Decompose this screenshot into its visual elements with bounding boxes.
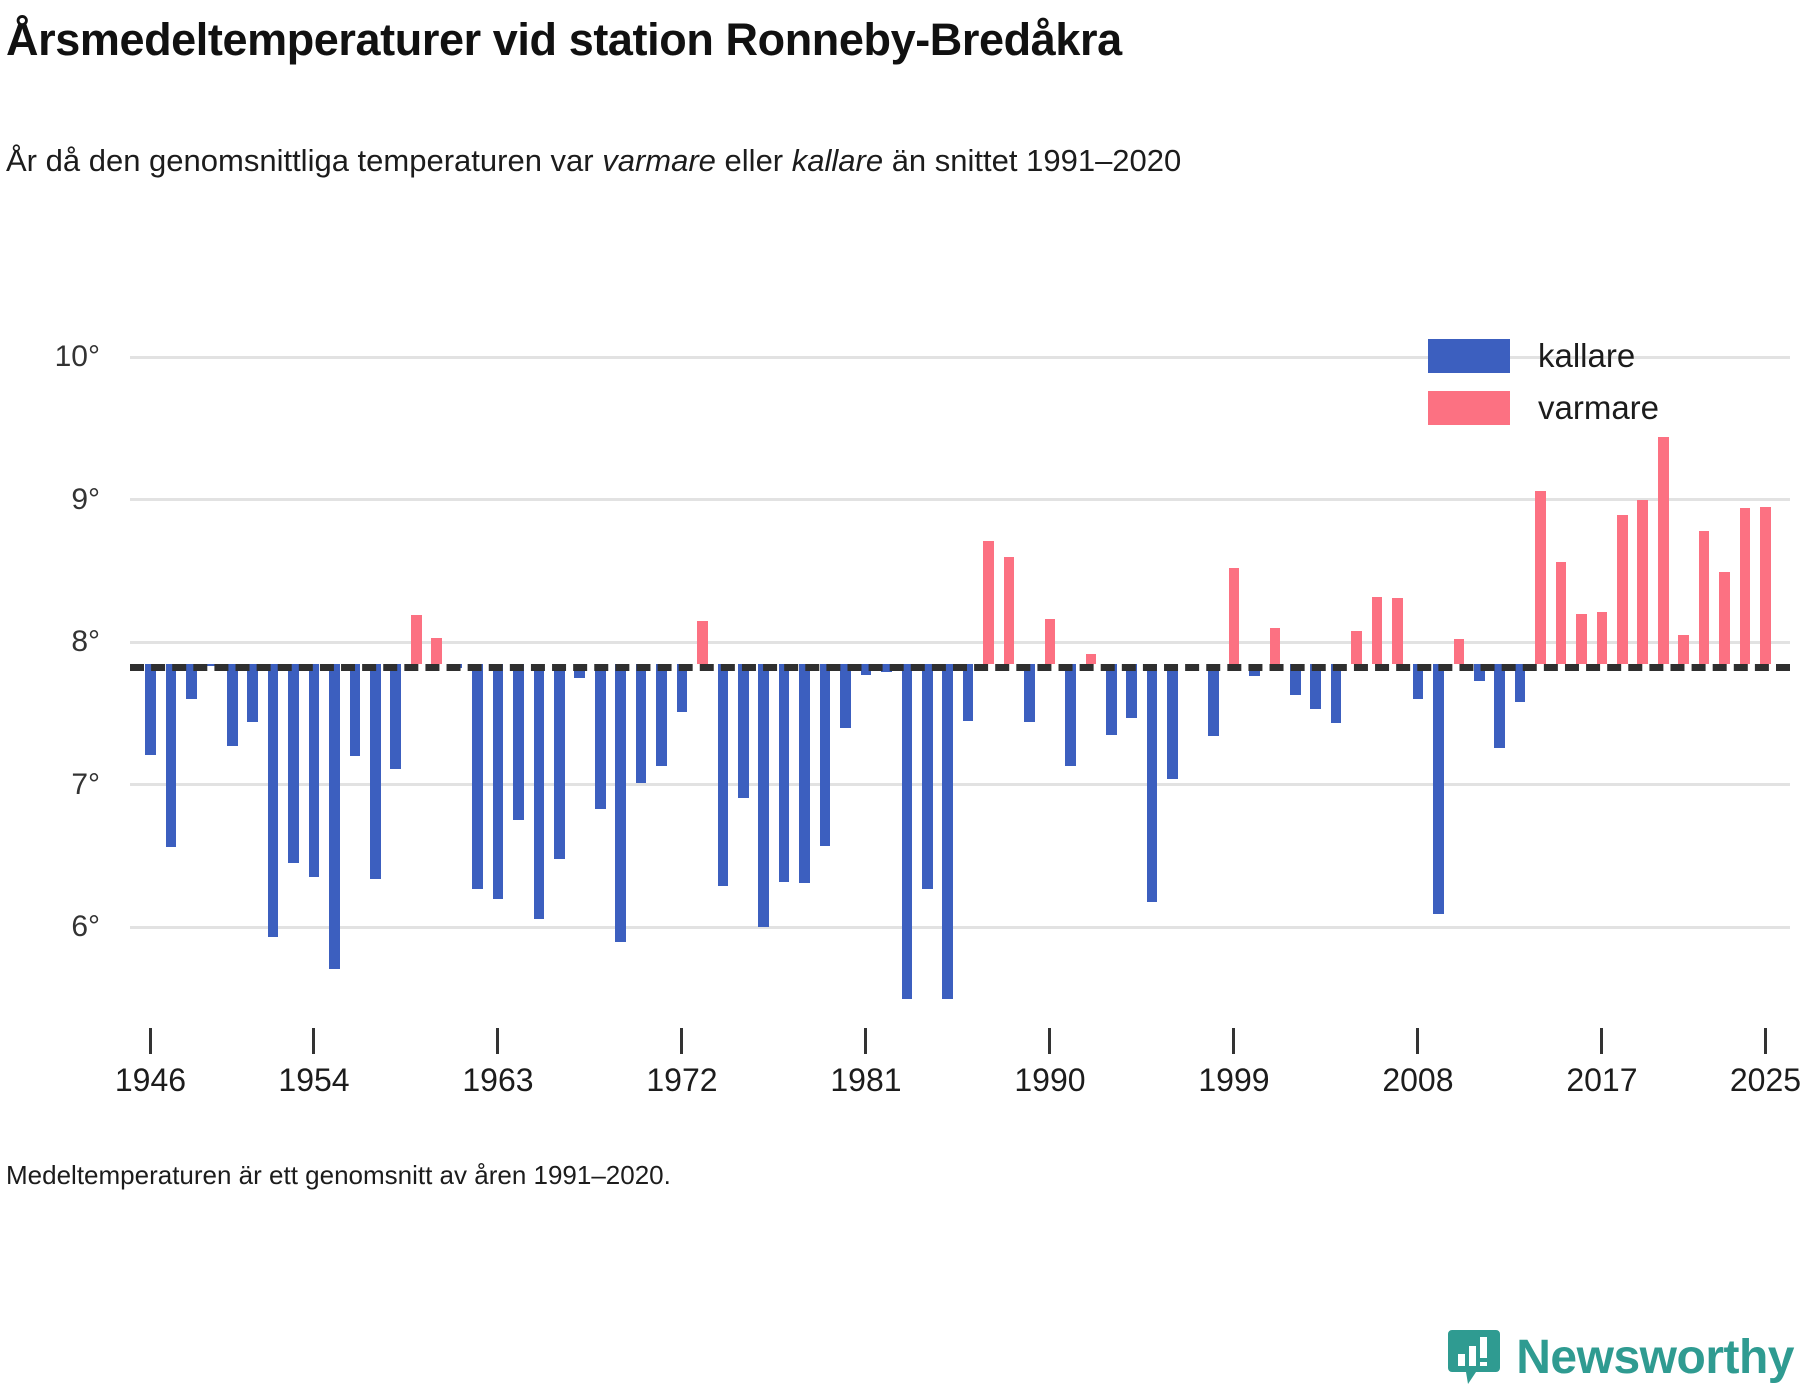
subtitle-segment-1: År då den genomsnittliga temperaturen va…	[6, 143, 602, 178]
x-axis-tick	[312, 1028, 315, 1054]
bar-1971[interactable]	[656, 664, 667, 767]
x-axis: 1946195419631972198119901999200820172025	[0, 1020, 1800, 1140]
x-axis-tick	[149, 1028, 152, 1054]
x-axis-tick	[1764, 1028, 1767, 1054]
x-axis-tick	[496, 1028, 499, 1054]
footnote: Medeltemperaturen är ett genomsnitt av å…	[6, 1160, 671, 1191]
bar-1990[interactable]	[1045, 619, 1056, 663]
bar-1964[interactable]	[513, 664, 524, 821]
bar-1946[interactable]	[145, 664, 156, 755]
bar-2007[interactable]	[1392, 598, 1403, 664]
bar-1954[interactable]	[309, 664, 320, 878]
y-axis-tick-label: 7°	[0, 768, 100, 802]
x-axis-tick-label: 1946	[115, 1062, 186, 1099]
page-title: Årsmedeltemperaturer vid station Ronneby…	[6, 14, 1122, 66]
bar-2017[interactable]	[1597, 612, 1608, 663]
x-axis-tick	[1048, 1028, 1051, 1054]
brand-name: Newsworthy	[1516, 1330, 1794, 1385]
y-axis-tick-label: 6°	[0, 910, 100, 944]
bar-1972[interactable]	[677, 664, 688, 712]
bar-2001[interactable]	[1270, 628, 1281, 664]
bar-1998[interactable]	[1208, 664, 1219, 737]
x-axis-tick	[1600, 1028, 1603, 1054]
bar-1955[interactable]	[329, 664, 340, 969]
bar-1999[interactable]	[1229, 568, 1240, 664]
bar-2019[interactable]	[1637, 500, 1648, 664]
legend-item-kallare[interactable]: kallare	[1428, 330, 1788, 382]
x-axis-tick-label: 1999	[1198, 1062, 1269, 1099]
legend-swatch-kallare	[1428, 339, 1510, 373]
bar-1953[interactable]	[288, 664, 299, 864]
bar-1950[interactable]	[227, 664, 238, 747]
bar-1965[interactable]	[534, 664, 545, 919]
bar-2024[interactable]	[1740, 508, 1751, 663]
bar-2020[interactable]	[1658, 437, 1669, 664]
bar-1952[interactable]	[268, 664, 279, 938]
x-axis-tick-label: 1954	[278, 1062, 349, 1099]
legend-swatch-varmare	[1428, 391, 1510, 425]
x-axis-tick-label: 1972	[646, 1062, 717, 1099]
bar-1973[interactable]	[697, 621, 708, 664]
x-axis-tick-label: 1963	[462, 1062, 533, 1099]
bar-1947[interactable]	[166, 664, 177, 848]
subtitle-segment-2: eller	[716, 143, 792, 178]
bar-1956[interactable]	[350, 664, 361, 757]
subtitle-segment-3: än snittet 1991–2020	[883, 143, 1181, 178]
bar-2021[interactable]	[1678, 635, 1689, 664]
bar-1970[interactable]	[636, 664, 647, 784]
bar-1983[interactable]	[902, 664, 913, 999]
chart-bars-logo-icon	[1446, 1328, 1502, 1386]
bar-2010[interactable]	[1454, 639, 1465, 663]
bar-1980[interactable]	[840, 664, 851, 728]
bar-2012[interactable]	[1494, 664, 1505, 748]
x-axis-tick	[1232, 1028, 1235, 1054]
bar-2023[interactable]	[1719, 572, 1730, 663]
bar-1989[interactable]	[1024, 664, 1035, 722]
bar-2016[interactable]	[1576, 614, 1587, 664]
bar-1951[interactable]	[247, 664, 258, 722]
bar-1957[interactable]	[370, 664, 381, 879]
bar-2015[interactable]	[1556, 562, 1567, 663]
x-axis-tick-label: 1981	[830, 1062, 901, 1099]
x-axis-tick-label: 2025	[1730, 1062, 1800, 1099]
x-axis-tick-label: 2017	[1566, 1062, 1637, 1099]
bar-1992[interactable]	[1086, 654, 1097, 664]
temperature-bar-chart: 6°7°8°9°10° 1946195419631972198119901999…	[0, 300, 1800, 1060]
bar-1987[interactable]	[983, 541, 994, 664]
bar-2004[interactable]	[1331, 664, 1342, 724]
bar-1962[interactable]	[472, 664, 483, 889]
average-reference-line	[130, 664, 1790, 671]
x-axis-tick-label: 2008	[1382, 1062, 1453, 1099]
bar-2005[interactable]	[1351, 631, 1362, 664]
bar-1963[interactable]	[493, 664, 504, 899]
bar-1968[interactable]	[595, 664, 606, 809]
page-subtitle: År då den genomsnittliga temperaturen va…	[6, 140, 1626, 183]
bar-2006[interactable]	[1372, 597, 1383, 664]
y-axis-tick-label: 10°	[0, 340, 100, 374]
y-axis-tick-label: 9°	[0, 483, 100, 517]
subtitle-emphasis-kallare: kallare	[792, 143, 883, 178]
bar-1984[interactable]	[922, 664, 933, 889]
bar-1969[interactable]	[615, 664, 626, 942]
bar-2014[interactable]	[1535, 491, 1546, 664]
x-axis-tick-label: 1990	[1014, 1062, 1085, 1099]
chart-legend: kallare varmare	[1428, 330, 1788, 434]
bar-1988[interactable]	[1004, 557, 1015, 664]
chart-page: Årsmedeltemperaturer vid station Ronneby…	[0, 0, 1800, 1400]
bar-1976[interactable]	[758, 664, 769, 928]
x-axis-tick	[864, 1028, 867, 1054]
bar-1996[interactable]	[1167, 664, 1178, 779]
bar-1994[interactable]	[1126, 664, 1137, 718]
bar-2009[interactable]	[1433, 664, 1444, 915]
bar-2025[interactable]	[1760, 507, 1771, 664]
legend-label-kallare: kallare	[1538, 337, 1635, 375]
bar-1979[interactable]	[820, 664, 831, 846]
bar-1978[interactable]	[799, 664, 810, 884]
subtitle-emphasis-varmare: varmare	[602, 143, 716, 178]
bar-1966[interactable]	[554, 664, 565, 859]
x-axis-tick	[680, 1028, 683, 1054]
bar-2018[interactable]	[1617, 515, 1628, 663]
bar-1960[interactable]	[431, 638, 442, 664]
bar-1974[interactable]	[718, 664, 729, 886]
bar-1986[interactable]	[963, 664, 974, 721]
legend-label-varmare: varmare	[1538, 389, 1659, 427]
bar-2022[interactable]	[1699, 531, 1710, 664]
bar-1975[interactable]	[738, 664, 749, 798]
legend-item-varmare[interactable]: varmare	[1428, 382, 1788, 434]
bar-1959[interactable]	[411, 615, 422, 663]
bar-1995[interactable]	[1147, 664, 1158, 902]
newsworthy-logo[interactable]: Newsworthy	[1446, 1328, 1794, 1386]
bar-1985[interactable]	[942, 664, 953, 999]
y-axis-tick-label: 8°	[0, 625, 100, 659]
bar-1958[interactable]	[390, 664, 401, 770]
bar-1977[interactable]	[779, 664, 790, 882]
bar-1991[interactable]	[1065, 664, 1076, 767]
bar-1993[interactable]	[1106, 664, 1117, 735]
x-axis-tick	[1416, 1028, 1419, 1054]
